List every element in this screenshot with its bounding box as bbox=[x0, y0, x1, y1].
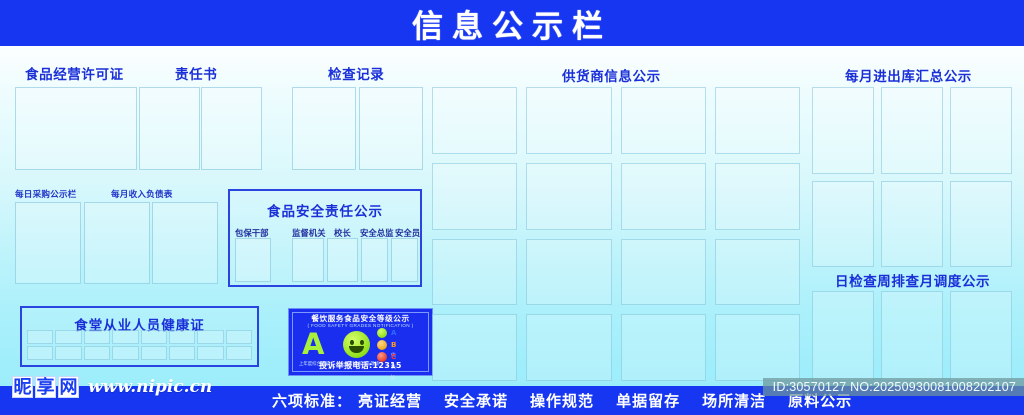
food-safety-responsibility-panel: 食品安全责任公示 包保干部 监督机关 校长 安全总监 安全员 bbox=[228, 189, 422, 287]
information-board: 信息公示栏 食品经营许可证 责任书 检查记录 每日采购公示栏 每月收入负债表 食… bbox=[0, 0, 1024, 415]
health-certificate-slot[interactable] bbox=[55, 330, 81, 344]
watermark-char: 昵 bbox=[12, 376, 33, 398]
supplier-info-slot[interactable] bbox=[715, 314, 800, 381]
inspection-record-slot-2[interactable] bbox=[359, 87, 423, 170]
health-certificate-slot[interactable] bbox=[55, 346, 81, 360]
section-title-license: 食品经营许可证 bbox=[25, 63, 124, 83]
supplier-info-slot[interactable] bbox=[432, 87, 517, 154]
grade-letter: A bbox=[302, 330, 324, 359]
health-certificate-grid bbox=[27, 330, 252, 360]
supplier-info-slot[interactable] bbox=[526, 239, 611, 306]
inspection-record-slot-1[interactable] bbox=[292, 87, 356, 170]
smiley-face-icon bbox=[343, 331, 370, 358]
supplier-info-slot[interactable] bbox=[526, 163, 611, 230]
section-title-monthly-inout: 每月进出库汇总公示 bbox=[845, 65, 972, 85]
health-certificate-slot[interactable] bbox=[84, 330, 110, 344]
complaint-hotline: 投诉举报电话:12315 bbox=[289, 360, 432, 371]
daily-weekly-monthly-slot[interactable] bbox=[812, 291, 874, 381]
six-standards-item: 操作规范 bbox=[530, 390, 594, 411]
health-certificate-slot[interactable] bbox=[226, 330, 252, 344]
daily-weekly-monthly-slot[interactable] bbox=[950, 291, 1012, 381]
six-standards-item: 亮证经营 bbox=[358, 390, 422, 411]
section-title-daily-purchase: 每日采购公示栏 bbox=[15, 188, 77, 200]
monthly-inout-slot[interactable] bbox=[881, 181, 943, 268]
six-standards-item: 单据留存 bbox=[616, 390, 680, 411]
health-certificate-slot[interactable] bbox=[169, 330, 195, 344]
section-title-monthly-income: 每月收入负债表 bbox=[111, 188, 173, 200]
health-certificate-slot[interactable] bbox=[112, 346, 138, 360]
legend-dot-b-icon bbox=[377, 340, 387, 350]
daily-weekly-monthly-slot[interactable] bbox=[881, 291, 943, 381]
supplier-info-slot[interactable] bbox=[526, 87, 611, 154]
six-standards-lead: 六项标准： bbox=[272, 390, 352, 411]
monthly-income-slot-1[interactable] bbox=[84, 202, 150, 284]
monthly-inout-slot[interactable] bbox=[950, 181, 1012, 268]
monthly-inout-slot[interactable] bbox=[812, 87, 874, 174]
health-certificate-slot[interactable] bbox=[141, 330, 167, 344]
legend-dot-a-icon bbox=[377, 328, 387, 338]
monthly-inout-slot[interactable] bbox=[812, 181, 874, 268]
six-standards-item: 安全承诺 bbox=[444, 390, 508, 411]
section-title-responsibility-book: 责任书 bbox=[175, 63, 217, 83]
six-standards-item: 场所清洁 bbox=[702, 390, 766, 411]
monthly-inout-grid bbox=[812, 87, 1012, 267]
section-title-supplier-info: 供货商信息公示 bbox=[562, 65, 661, 85]
supplier-info-slot[interactable] bbox=[621, 163, 706, 230]
health-certificate-slot[interactable] bbox=[27, 346, 53, 360]
monthly-inout-slot[interactable] bbox=[950, 87, 1012, 174]
license-slot[interactable] bbox=[15, 87, 137, 170]
watermark-char: 网 bbox=[58, 376, 79, 398]
supplier-info-slot[interactable] bbox=[621, 239, 706, 306]
supplier-info-slot[interactable] bbox=[526, 314, 611, 381]
health-certificate-slot[interactable] bbox=[27, 330, 53, 344]
section-title-inspection-records: 检查记录 bbox=[328, 63, 384, 83]
daily-weekly-monthly-grid bbox=[812, 291, 1012, 381]
food-safety-panel-title: 食品安全责任公示 bbox=[230, 200, 420, 220]
monthly-inout-slot[interactable] bbox=[881, 87, 943, 174]
watermark-logo: 昵享网 bbox=[12, 376, 81, 398]
health-certificate-slot[interactable] bbox=[169, 346, 195, 360]
supplier-info-slot[interactable] bbox=[621, 87, 706, 154]
supplier-info-slot[interactable] bbox=[715, 87, 800, 154]
health-certificate-slot[interactable] bbox=[141, 346, 167, 360]
photo-slot-supervision-agency[interactable] bbox=[292, 238, 324, 282]
responsibility-book-slot-2[interactable] bbox=[201, 87, 262, 170]
monthly-income-slot-2[interactable] bbox=[152, 202, 218, 284]
supplier-info-slot[interactable] bbox=[432, 314, 517, 381]
health-certificate-slot[interactable] bbox=[197, 330, 223, 344]
supplier-info-slot[interactable] bbox=[715, 163, 800, 230]
watermark-url: www.nipic.cn bbox=[88, 377, 212, 397]
supplier-info-slot[interactable] bbox=[715, 239, 800, 306]
supplier-info-slot[interactable] bbox=[432, 163, 517, 230]
photo-slot-safety-director[interactable] bbox=[361, 238, 388, 282]
supplier-info-slot[interactable] bbox=[621, 314, 706, 381]
daily-purchase-slot[interactable] bbox=[15, 202, 81, 284]
health-certificate-slot[interactable] bbox=[226, 346, 252, 360]
supplier-info-slot[interactable] bbox=[432, 239, 517, 306]
page-title: 信息公示栏 bbox=[0, 0, 1024, 46]
health-certificate-slot[interactable] bbox=[84, 346, 110, 360]
supplier-info-grid bbox=[432, 87, 800, 381]
image-id-badge: ID:30570127 NO:20250930081008202107 bbox=[763, 378, 1024, 396]
board-header: 信息公示栏 bbox=[0, 0, 1024, 46]
photo-slot-baobao-ganbu[interactable] bbox=[235, 238, 271, 282]
section-title-daily-weekly-monthly: 日检查周排查月调度公示 bbox=[835, 270, 990, 290]
watermark: 昵享网 www.nipic.cn bbox=[12, 376, 212, 398]
food-safety-grade-card: 餐饮服务食品安全等级公示 ( FOOD SAFETY GRADES NOTIFI… bbox=[288, 308, 433, 376]
responsibility-book-slot-1[interactable] bbox=[139, 87, 200, 170]
health-certificate-slot[interactable] bbox=[197, 346, 223, 360]
photo-slot-principal[interactable] bbox=[327, 238, 358, 282]
photo-slot-safety-officer[interactable] bbox=[391, 238, 418, 282]
health-certificate-panel: 食堂从业人员健康证 bbox=[20, 306, 259, 367]
health-certificate-slot[interactable] bbox=[112, 330, 138, 344]
watermark-char: 享 bbox=[35, 376, 56, 398]
